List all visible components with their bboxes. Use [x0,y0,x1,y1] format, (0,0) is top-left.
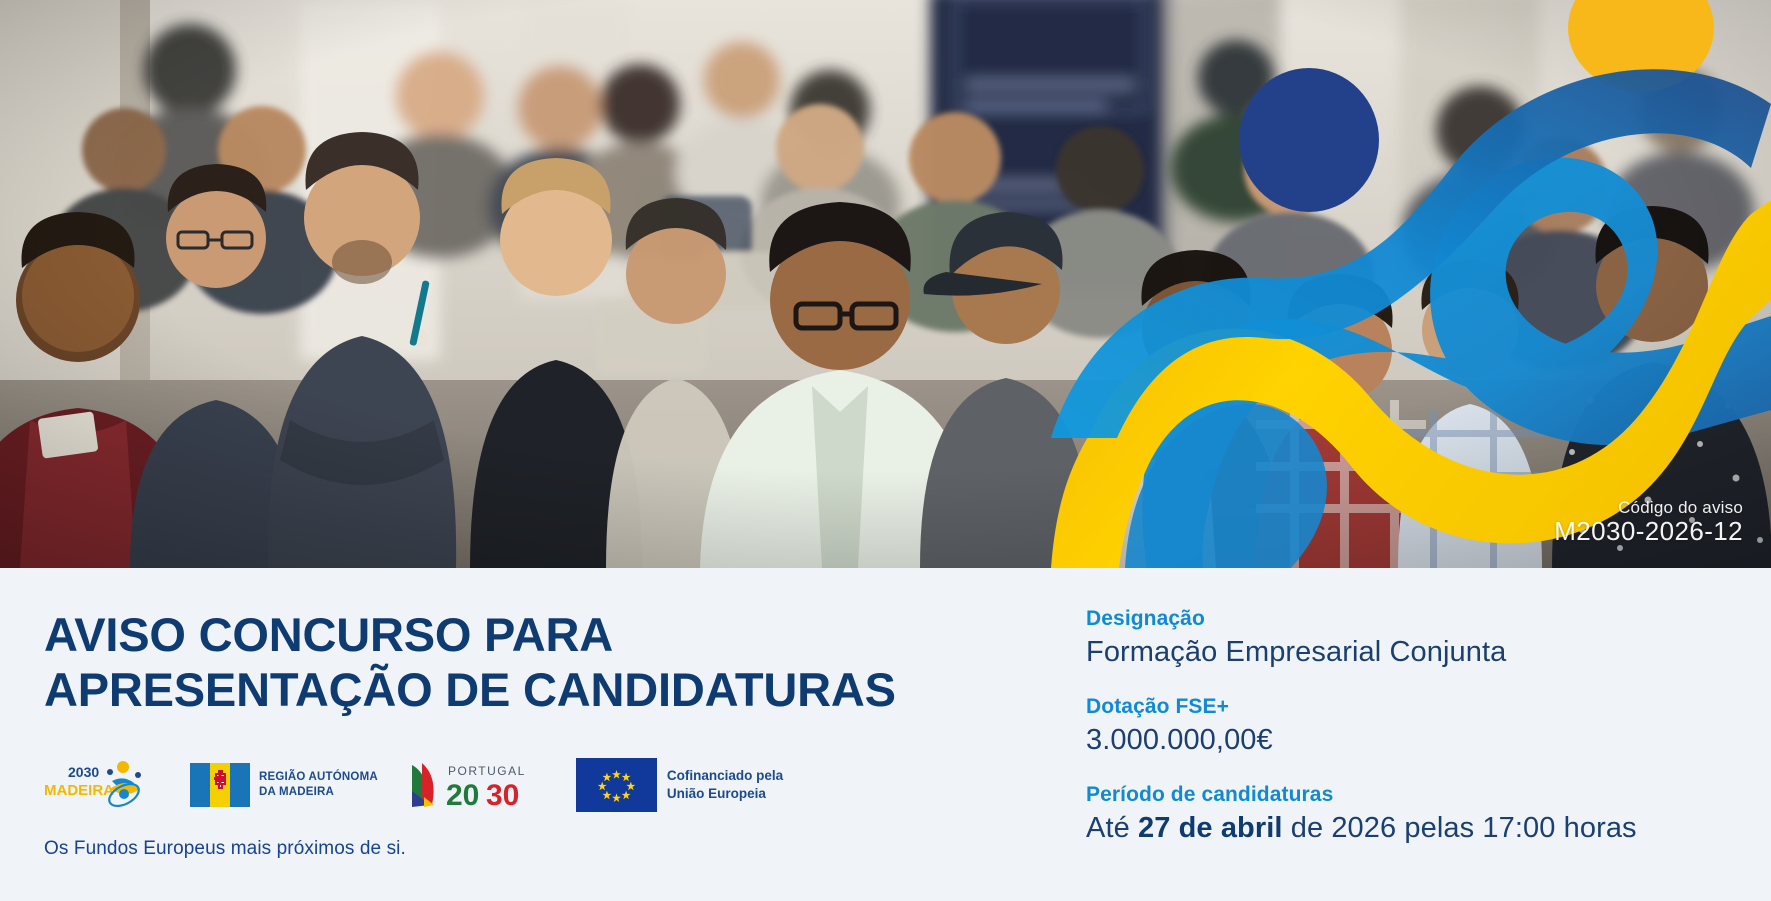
field-periodo-value: Até 27 de abril de 2026 pelas 17:00 hora… [1086,810,1746,848]
periodo-deadline-date: 27 de abril [1138,812,1283,844]
field-periodo-label: Período de candidaturas [1086,782,1746,808]
audience-photo-illustration [0,0,1771,568]
svg-text:30: 30 [486,779,519,811]
page-title: AVISO CONCURSO PARA APRESENTAÇÃO DE CAND… [44,608,944,718]
page-title-line-2: APRESENTAÇÃO DE CANDIDATURAS [44,663,944,718]
portugal-2030-logo-icon: PORTUGAL 20 30 [408,759,536,811]
regiao-autonoma-label: REGIÃO AUTÓNOMA DA MADEIRA [259,770,378,800]
periodo-suffix: de 2026 pelas 17:00 horas [1283,812,1637,844]
field-periodo: Período de candidaturas Até 27 de abril … [1086,782,1746,848]
periodo-prefix: Até [1086,812,1138,844]
svg-text:20: 20 [446,779,479,811]
field-dotacao-value: 3.000.000,00€ [1086,722,1746,760]
notice-code: Código do aviso M2030-2026-12 [1554,498,1743,546]
field-designacao-value: Formação Empresarial Conjunta [1086,634,1746,672]
info-panel: AVISO CONCURSO PARA APRESENTAÇÃO DE CAND… [0,568,1771,901]
portugal-2030-logo: PORTUGAL 20 30 [408,759,576,811]
notice-code-label: Código do aviso [1554,498,1743,517]
european-union-cofinancing-logo: Cofinanciado pela União Europeia [576,758,783,812]
tagline: Os Fundos Europeus mais próximos de si. [44,838,944,860]
madeira-flag-icon [190,763,250,807]
svg-text:PORTUGAL: PORTUGAL [448,764,526,778]
aviso-banner: Código do aviso M2030-2026-12 AVISO CONC… [0,0,1771,901]
page-title-line-1: AVISO CONCURSO PARA [44,608,944,663]
hero-photo: Código do aviso M2030-2026-12 [0,0,1771,568]
logo-row: 2030 MADEIRA [44,758,944,812]
field-designacao: Designação Formação Empresarial Conjunta [1086,606,1746,672]
eu-flag-icon [576,758,657,812]
field-designacao-label: Designação [1086,606,1746,632]
svg-text:MADEIRA: MADEIRA [44,782,114,799]
regiao-autonoma-da-madeira-logo: REGIÃO AUTÓNOMA DA MADEIRA [190,763,378,807]
madeira-2030-logo-icon: 2030 MADEIRA [44,759,156,811]
madeira-2030-logo: 2030 MADEIRA [44,759,190,811]
left-column: AVISO CONCURSO PARA APRESENTAÇÃO DE CAND… [44,608,944,860]
right-column: Designação Formação Empresarial Conjunta… [1086,606,1746,848]
field-dotacao-label: Dotação FSE+ [1086,694,1746,720]
field-dotacao: Dotação FSE+ 3.000.000,00€ [1086,694,1746,760]
notice-code-value: M2030-2026-12 [1554,517,1743,546]
eu-cofinancing-label: Cofinanciado pela União Europeia [667,767,783,803]
svg-text:2030: 2030 [68,764,99,780]
